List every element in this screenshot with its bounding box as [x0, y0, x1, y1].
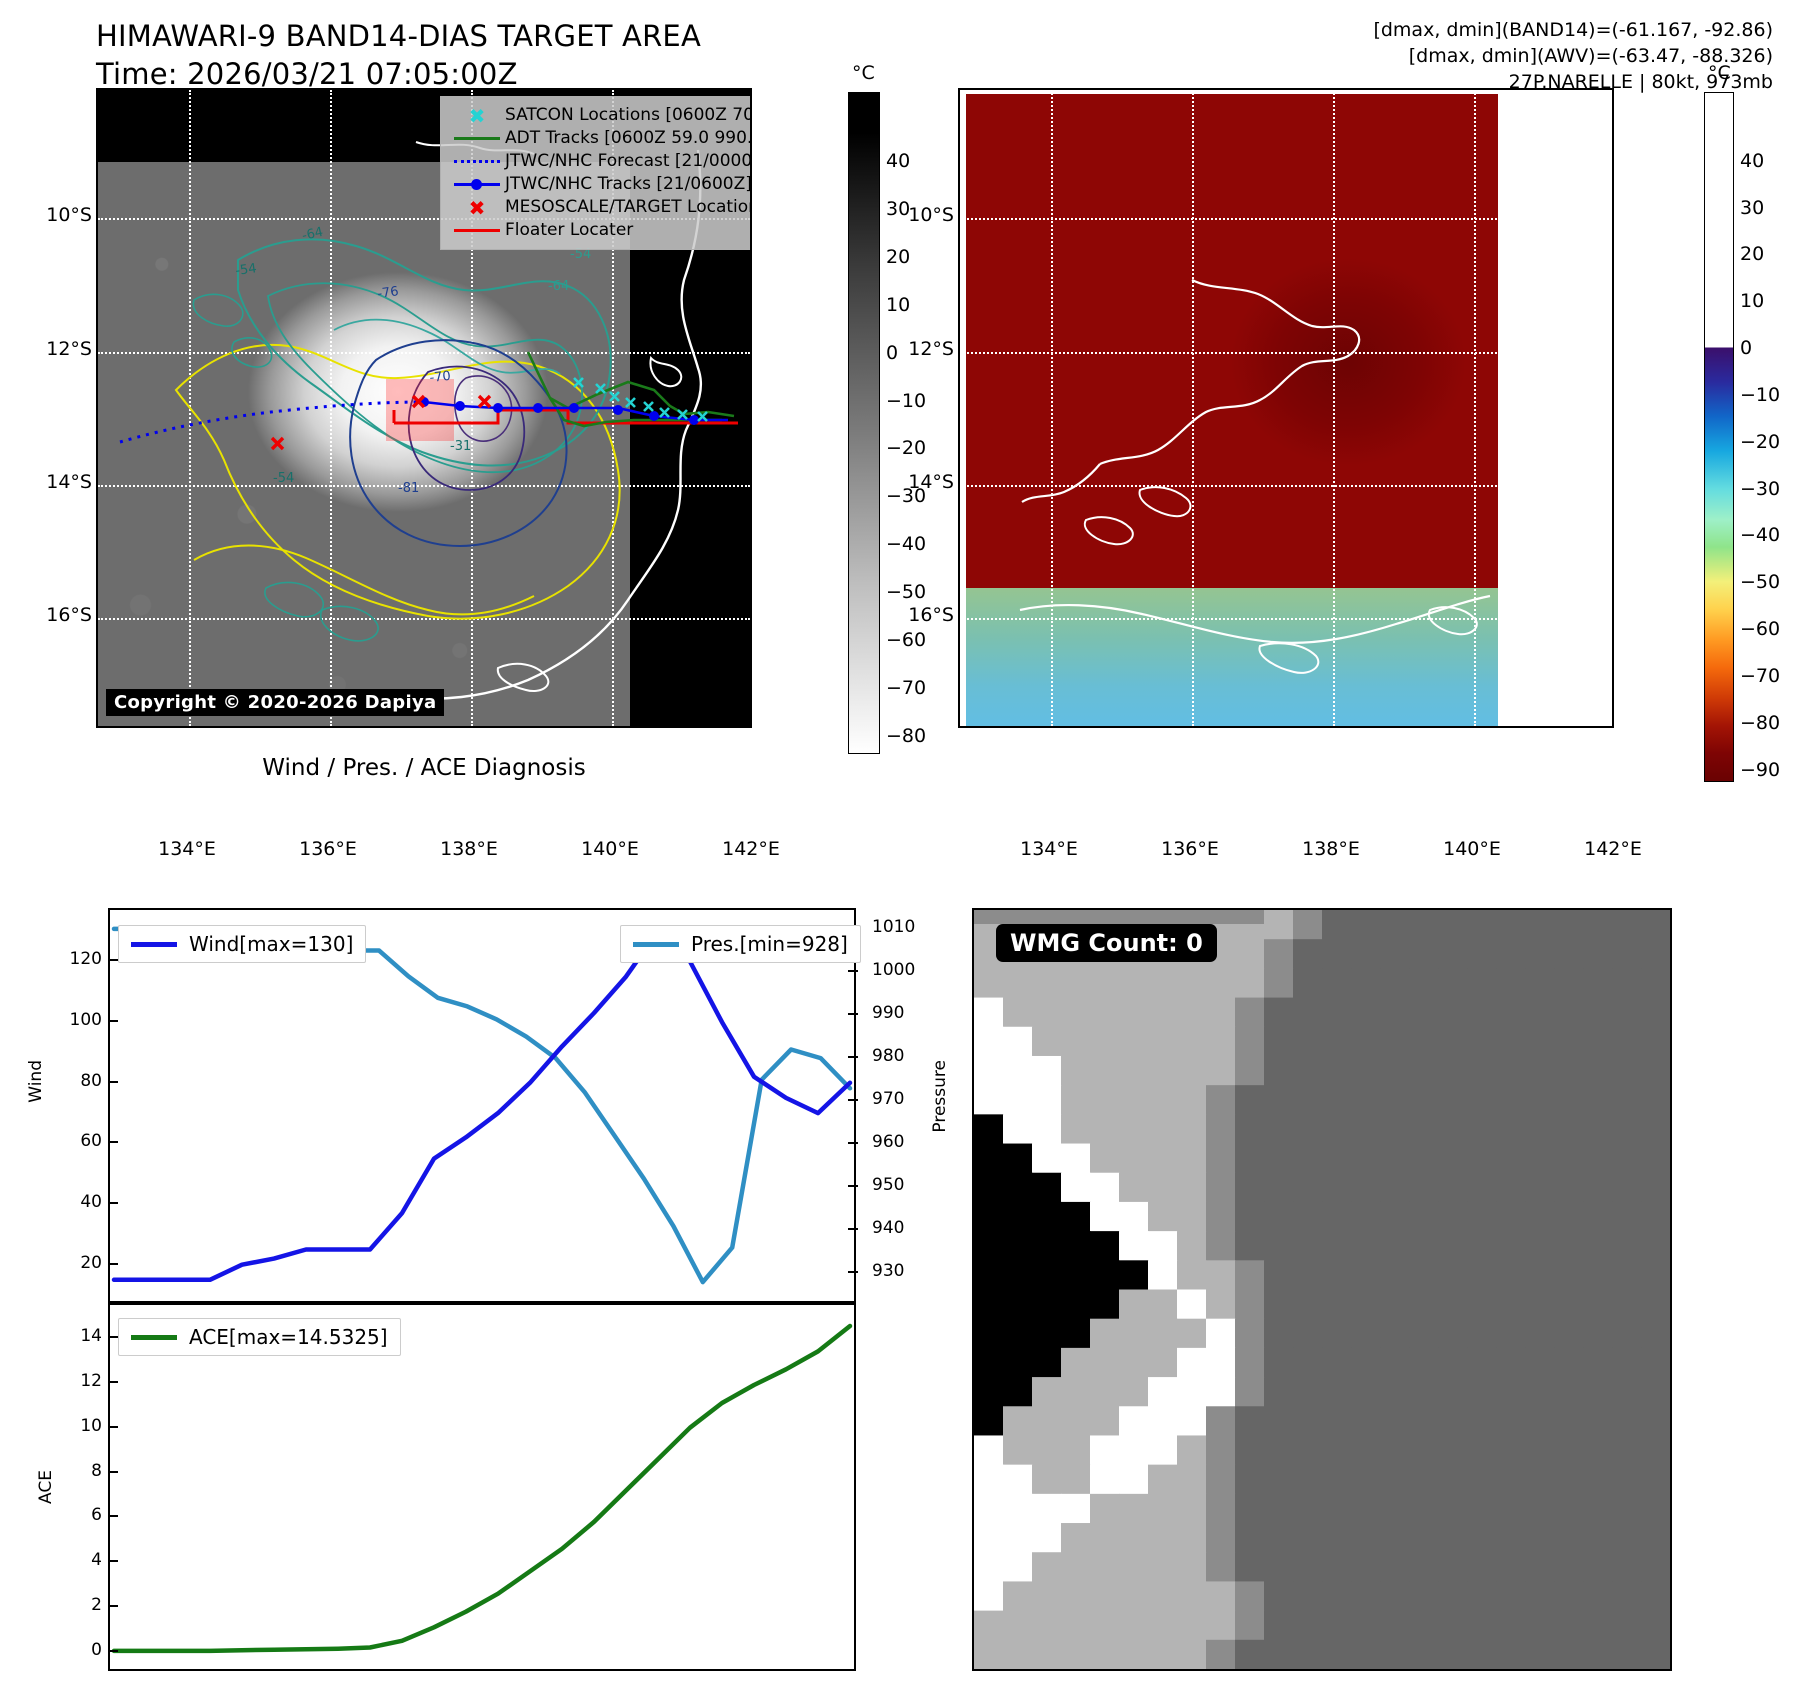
axis-tick-label: 40 [56, 1192, 102, 1212]
colorbar-tick: 10 [886, 294, 910, 316]
colorbar-tick: 30 [1740, 197, 1764, 219]
title-line: HIMAWARI-9 BAND14-DIAS TARGET AREA [96, 18, 896, 56]
axis-tick-mark [108, 1650, 118, 1652]
awv-colorbar: °C 403020100−10−20−30−40−50−60−70−80−90 [1698, 62, 1797, 752]
axis-tick-mark [848, 970, 858, 972]
colorbar-tick: −40 [1740, 524, 1780, 546]
floater-target-box [386, 379, 454, 441]
colorbar-tick: −10 [1740, 384, 1780, 406]
colorbar-tick: −20 [886, 437, 926, 459]
lon-tick-label: 134°E [1017, 838, 1081, 860]
colorbar-unit-right: °C [1708, 62, 1731, 84]
awv-coastline-overlay [960, 90, 1614, 728]
forecast-dotted-line-icon [449, 160, 505, 163]
legend-label-pressure: Pres.[min=928] [691, 932, 848, 956]
lon-tick-label: 142°E [719, 838, 783, 860]
legend-item-floater[interactable]: Floater Locater [449, 219, 752, 242]
svg-text:-54: -54 [273, 471, 294, 486]
axis-tick-label: 990 [872, 1003, 904, 1023]
axis-tick-mark [108, 1263, 118, 1265]
legend-label-jtwc-tracks: JTWC/NHC Tracks [21/0600Z] [505, 173, 752, 196]
lat-tick-label: 16°S [22, 604, 92, 626]
axis-tick-label: 1010 [872, 917, 915, 937]
lat-tick-label: 14°S [22, 471, 92, 493]
dmax-band14-text: [dmax, dmin](BAND14)=(-61.167, -92.86) [1373, 18, 1773, 44]
lon-tick-label: 140°E [578, 838, 642, 860]
colorbar-tick: −80 [886, 725, 926, 747]
axis-tick-mark [848, 1271, 858, 1273]
axis-tick-mark [108, 1381, 118, 1383]
legend-item-jtwc-tracks[interactable]: JTWC/NHC Tracks [21/0600Z] [449, 173, 752, 196]
lon-tick-label: 136°E [1158, 838, 1222, 860]
colorbar-ticks-right: 403020100−10−20−30−40−50−60−70−80−90 [1740, 92, 1797, 780]
wmg-mask-raster [974, 910, 1670, 1669]
colorbar-gradient-right [1704, 92, 1734, 782]
axis-tick-label: 60 [56, 1131, 102, 1151]
colorbar-tick: 0 [1740, 337, 1752, 359]
colorbar-tick: −50 [1740, 571, 1780, 593]
colorbar-tick: 20 [1740, 243, 1764, 265]
band14-target-area-map[interactable]: -64 -54 -54 -31 -76 -70 -81 -64 -54 ✖ SA… [96, 88, 752, 728]
band14-colorbar: °C 403020100−10−20−30−40−50−60−70−80 [836, 62, 946, 752]
svg-text:-64: -64 [548, 279, 569, 294]
ace-chart[interactable] [108, 1303, 856, 1671]
axis-tick-label: 10 [56, 1416, 102, 1436]
colorbar-tick: 40 [1740, 150, 1764, 172]
lon-tick-label: 142°E [1581, 838, 1645, 860]
legend-item-mesoscale[interactable]: ✖ MESOSCALE/TARGET Location [449, 196, 752, 219]
lon-tick-label: 138°E [437, 838, 501, 860]
ace-plot-area [110, 1305, 854, 1669]
lat-tick-label: 14°S [884, 471, 954, 493]
axis-tick-mark [108, 959, 118, 961]
adt-line-icon [449, 137, 505, 140]
colorbar-tick: −20 [1740, 431, 1780, 453]
colorbar-tick: −30 [1740, 478, 1780, 500]
lat-tick-label: 16°S [884, 604, 954, 626]
colorbar-unit-left: °C [852, 62, 875, 84]
svg-text:-64: -64 [301, 225, 325, 244]
axis-tick-mark [108, 1426, 118, 1428]
axis-tick-mark [108, 1336, 118, 1338]
wind-axis-label: Wind [26, 1060, 46, 1103]
axis-tick-mark [848, 1228, 858, 1230]
map-legend[interactable]: ✖ SATCON Locations [0600Z 70 975] ADT Tr… [440, 96, 752, 250]
chart-title: Wind / Pres. / ACE Diagnosis [96, 755, 752, 781]
legend-pressure[interactable]: Pres.[min=928] [620, 925, 861, 963]
colorbar-tick: −10 [886, 390, 926, 412]
axis-tick-mark [848, 1099, 858, 1101]
lat-tick-label: 10°S [22, 204, 92, 226]
axis-tick-mark [108, 1560, 118, 1562]
axis-tick-label: 100 [56, 1010, 102, 1030]
svg-text:-76: -76 [376, 284, 399, 302]
legend-label-satcon: SATCON Locations [0600Z 70 975] [505, 104, 752, 127]
lon-tick-label: 140°E [1440, 838, 1504, 860]
ace-y-ticks: 02468101214 [0, 0, 1797, 1]
axis-tick-label: 4 [56, 1550, 102, 1570]
axis-tick-label: 970 [872, 1089, 904, 1109]
axis-tick-label: 1000 [872, 960, 915, 980]
lat-tick-label: 12°S [884, 338, 954, 360]
colorbar-gradient-left [848, 92, 880, 754]
legend-label-mesoscale: MESOSCALE/TARGET Location [505, 196, 752, 219]
ace-axis-label: ACE [36, 1470, 56, 1504]
copyright-notice: Copyright © 2020-2026 Dapiya [106, 689, 444, 716]
colorbar-tick: −70 [886, 677, 926, 699]
axis-tick-label: 960 [872, 1132, 904, 1152]
axis-tick-mark [108, 1605, 118, 1607]
colorbar-tick: 20 [886, 246, 910, 268]
awv-enhanced-map[interactable] [958, 88, 1614, 728]
axis-tick-label: 6 [56, 1505, 102, 1525]
mesoscale-x-icon: ✖ [449, 198, 505, 218]
axis-tick-mark [108, 1141, 118, 1143]
axis-tick-label: 2 [56, 1595, 102, 1615]
colorbar-tick: 40 [886, 150, 910, 172]
colorbar-tick: −80 [1740, 712, 1780, 734]
axis-tick-label: 940 [872, 1218, 904, 1238]
lon-tick-label: 136°E [296, 838, 360, 860]
svg-text:-31: -31 [450, 439, 471, 454]
satcon-x-icon: ✖ [449, 106, 505, 126]
colorbar-tick: −60 [1740, 618, 1780, 640]
axis-tick-label: 930 [872, 1261, 904, 1281]
axis-tick-label: 0 [56, 1640, 102, 1660]
legend-label-jtwc-forecast: JTWC/NHC Forecast [21/0000Z] [505, 150, 752, 173]
lon-tick-label: 138°E [1299, 838, 1363, 860]
axis-tick-label: 950 [872, 1175, 904, 1195]
svg-text:-70: -70 [429, 369, 452, 386]
pressure-legend-swatch [633, 942, 679, 947]
legend-item-adt[interactable]: ADT Tracks [0600Z 59.0 990.8] [449, 127, 752, 150]
svg-text:-54: -54 [234, 261, 257, 279]
colorbar-tick: 10 [1740, 290, 1764, 312]
colorbar-tick: −40 [886, 533, 926, 555]
colorbar-tick: −60 [886, 629, 926, 651]
wind-legend-swatch [131, 942, 177, 947]
axis-tick-label: 80 [56, 1071, 102, 1091]
axis-tick-mark [108, 1515, 118, 1517]
colorbar-tick: −50 [886, 581, 926, 603]
wind-pressure-chart[interactable] [108, 908, 856, 1303]
axis-tick-label: 20 [56, 1253, 102, 1273]
colorbar-tick: −70 [1740, 665, 1780, 687]
legend-label-wind: Wind[max=130] [189, 932, 353, 956]
axis-tick-mark [108, 1081, 118, 1083]
axis-tick-mark [848, 1013, 858, 1015]
legend-wind[interactable]: Wind[max=130] [118, 925, 366, 963]
track-line-dot-icon [449, 183, 505, 186]
colorbar-ticks-left: 403020100−10−20−30−40−50−60−70−80 [886, 92, 944, 752]
axis-tick-mark [848, 1142, 858, 1144]
axis-tick-label: 12 [56, 1371, 102, 1391]
legend-label-floater: Floater Locater [505, 219, 633, 242]
pressure-axis-label: Pressure [930, 1060, 950, 1133]
axis-tick-label: 120 [56, 949, 102, 969]
colorbar-tick: −90 [1740, 759, 1780, 781]
wind-pressure-plot-area [110, 910, 854, 1301]
legend-item-jtwc-forecast[interactable]: JTWC/NHC Forecast [21/0000Z] [449, 150, 752, 173]
page-title: HIMAWARI-9 BAND14-DIAS TARGET AREA Time:… [96, 18, 896, 93]
ace-legend-swatch [131, 1335, 177, 1340]
axis-tick-mark [848, 1056, 858, 1058]
axis-tick-label: 980 [872, 1046, 904, 1066]
axis-tick-mark [848, 1185, 858, 1187]
axis-tick-mark [108, 1471, 118, 1473]
floater-line-icon [449, 229, 505, 232]
lat-tick-label: 12°S [22, 338, 92, 360]
legend-label-adt: ADT Tracks [0600Z 59.0 990.8] [505, 127, 752, 150]
svg-text:-81: -81 [398, 481, 419, 496]
lat-tick-label: 10°S [884, 204, 954, 226]
legend-ace[interactable]: ACE[max=14.5325] [118, 1318, 401, 1356]
wmg-mask-panel[interactable]: WMG Count: 0 [972, 908, 1672, 1671]
lon-tick-label: 134°E [155, 838, 219, 860]
wmg-count-badge: WMG Count: 0 [996, 924, 1217, 962]
legend-item-satcon[interactable]: ✖ SATCON Locations [0600Z 70 975] [449, 104, 752, 127]
axis-tick-label: 14 [56, 1326, 102, 1346]
axis-tick-label: 8 [56, 1461, 102, 1481]
legend-label-ace: ACE[max=14.5325] [189, 1325, 388, 1349]
axis-tick-mark [108, 1020, 118, 1022]
axis-tick-mark [108, 1202, 118, 1204]
